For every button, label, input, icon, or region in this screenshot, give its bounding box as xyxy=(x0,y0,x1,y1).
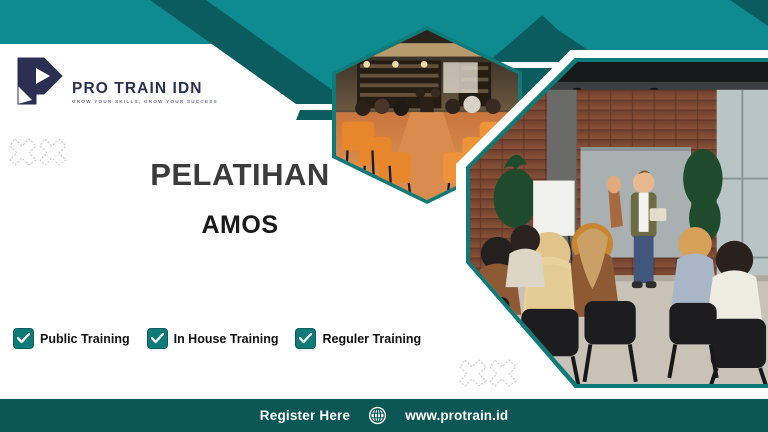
brand-tagline: GROW YOUR SKILLS, GROW YOUR SUCCESS xyxy=(72,99,218,104)
training-options: Public Training In House Training Regule… xyxy=(14,329,421,348)
checkbox-checked-icon[interactable] xyxy=(148,329,167,348)
globe-icon xyxy=(368,406,387,425)
brand-logo: PRO TRAIN IDN GROW YOUR SKILLS, GROW YOU… xyxy=(14,52,218,108)
training-classroom-photo xyxy=(466,58,768,388)
brand-name: PRO TRAIN IDN xyxy=(72,81,218,97)
training-option-in-house[interactable]: In House Training xyxy=(148,329,279,348)
training-option-label: Public Training xyxy=(40,332,130,346)
checkbox-checked-icon[interactable] xyxy=(14,329,33,348)
poster-title: PELATIHAN AMOS xyxy=(0,158,480,240)
training-option-label: In House Training xyxy=(174,332,279,346)
training-option-reguler[interactable]: Reguler Training xyxy=(296,329,421,348)
website-url[interactable]: www.protrain.id xyxy=(405,408,508,423)
training-option-public[interactable]: Public Training xyxy=(14,329,130,348)
promo-poster: PRO TRAIN IDN GROW YOUR SKILLS, GROW YOU… xyxy=(0,0,768,432)
title-main: PELATIHAN xyxy=(0,158,480,192)
brand-text: PRO TRAIN IDN GROW YOUR SKILLS, GROW YOU… xyxy=(72,81,218,109)
register-here-cta[interactable]: Register Here xyxy=(260,408,350,423)
training-option-label: Reguler Training xyxy=(322,332,421,346)
checkbox-checked-icon[interactable] xyxy=(296,329,315,348)
footer-bar: Register Here www.protrain.id xyxy=(0,399,768,432)
title-sub: AMOS xyxy=(0,212,480,240)
protrain-arrow-logo-icon xyxy=(14,52,66,108)
